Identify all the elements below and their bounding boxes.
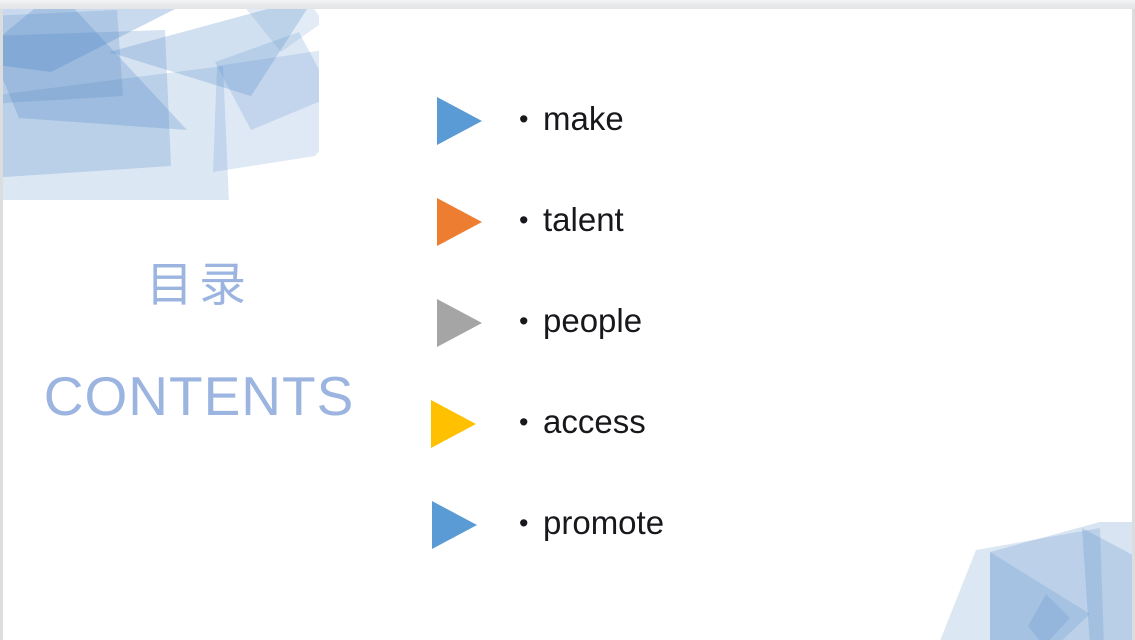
list-item-label: •make <box>519 94 624 144</box>
bullet-glyph: • <box>519 195 543 245</box>
triangle-right-icon <box>437 299 482 347</box>
list-item-label: •talent <box>519 195 624 245</box>
slide-canvas: 目录 CONTENTS •make •talent •people •acces… <box>3 8 1132 640</box>
triangle-right-icon <box>437 198 482 246</box>
slide-title-block: 目录 CONTENTS <box>19 260 379 425</box>
bullet-glyph: • <box>519 498 543 548</box>
list-item-label: •access <box>519 397 646 447</box>
bullet-glyph: • <box>519 397 543 447</box>
viewer-left-border <box>0 8 3 640</box>
bullet-glyph: • <box>519 94 543 144</box>
page-title-chinese: 目录 <box>19 260 379 310</box>
list-item-text: make <box>543 100 624 137</box>
triangle-right-icon <box>431 400 476 448</box>
contents-list: •make •talent •people •access •promote <box>421 88 1101 593</box>
list-item-text: talent <box>543 201 624 238</box>
list-item-label: •promote <box>519 498 664 548</box>
list-item-text: access <box>543 403 646 440</box>
list-item[interactable]: •people <box>421 290 1101 391</box>
page-title-english: CONTENTS <box>19 368 379 425</box>
list-item[interactable]: •make <box>421 88 1101 189</box>
list-item[interactable]: •access <box>421 391 1101 492</box>
list-item-text: promote <box>543 504 664 541</box>
viewer-top-band <box>0 0 1135 9</box>
list-item-text: people <box>543 302 642 339</box>
list-item-label: •people <box>519 296 642 346</box>
overlapping-polygons-decoration-top-left <box>3 8 319 200</box>
bullet-glyph: • <box>519 296 543 346</box>
list-item[interactable]: •promote <box>421 492 1101 593</box>
triangle-right-icon <box>437 97 482 145</box>
list-item[interactable]: •talent <box>421 189 1101 290</box>
triangle-right-icon <box>432 501 477 549</box>
slide-viewer: 目录 CONTENTS •make •talent •people •acces… <box>0 0 1135 640</box>
